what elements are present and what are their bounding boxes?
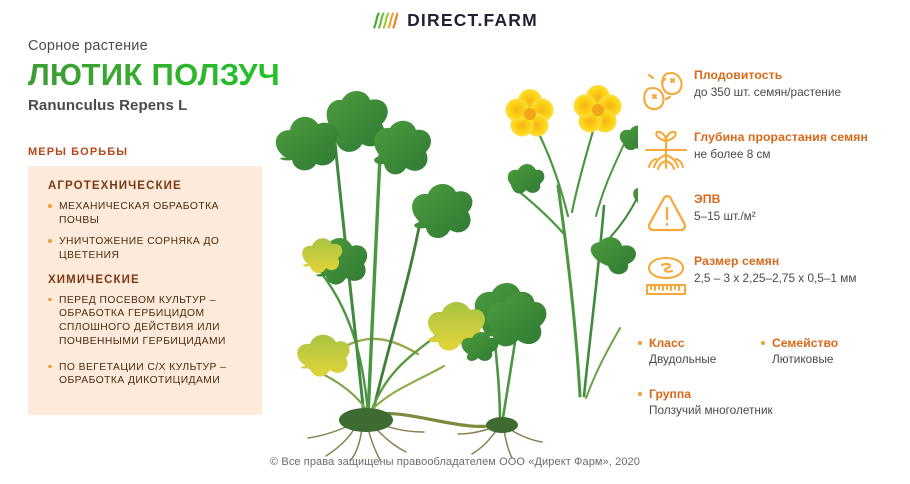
- stat-text: Размер семян 2,5 – 3 х 2,25–2,75 х 0,5–1…: [694, 252, 856, 286]
- sprout-roots-icon: [638, 128, 694, 176]
- stat-row-germination-depth: Глубина прорастания семян не более 8 см: [638, 128, 900, 178]
- list-item-text: ПО ВЕГЕТАЦИИ С/Х КУЛЬТУР – ОБРАБОТКА ДИК…: [59, 362, 226, 387]
- wave-lines-icon: [372, 11, 398, 30]
- infographic-page: DIRECT.FARM Сорное растение ЛЮТИК ПОЛЗУЧ…: [0, 0, 910, 484]
- copyright-footer: © Все права защищены правообладателем ОО…: [0, 456, 910, 468]
- stat-title: Плодовитость: [694, 68, 841, 83]
- list-item: ПЕРЕД ПОСЕВОМ КУЛЬТУР – ОБРАБОТКА ГЕРБИЦ…: [48, 294, 248, 349]
- latin-name: Ranunculus Repens L: [28, 97, 278, 114]
- stat-value: 2,5 – 3 х 2,25–2,75 х 0,5–1 мм: [694, 271, 856, 286]
- bullet-dot-icon: [48, 204, 52, 208]
- page-title: ЛЮТИК ПОЛЗУЧИЙ: [28, 58, 278, 91]
- logo-text: DIRECT.FARM: [407, 10, 538, 31]
- taxonomy-item-class: Класс Двудольные: [638, 336, 761, 366]
- list-item: МЕХАНИЧЕСКАЯ ОБРАБОТКА ПОЧВЫ: [48, 200, 248, 227]
- bullet-dot-icon: [638, 392, 642, 396]
- list-item: УНИЧТОЖЕНИЕ СОРНЯКА ДО ЦВЕТЕНИЯ: [48, 235, 248, 262]
- warning-triangle-icon: [638, 190, 694, 238]
- bullet-dot-icon: [48, 239, 52, 243]
- taxonomy-value: Ползучий многолетник: [649, 403, 773, 417]
- taxonomy-item-family: Семейство Лютиковые: [761, 336, 838, 366]
- measures-list-chem: ПЕРЕД ПОСЕВОМ КУЛЬТУР – ОБРАБОТКА ГЕРБИЦ…: [48, 294, 248, 388]
- taxonomy-item-group: Группа Ползучий многолетник: [638, 387, 773, 417]
- taxonomy-block: Класс Двудольные Семейство Лютиковые Гру…: [638, 336, 906, 417]
- stat-row-fertility: Плодовитость до 350 шт. семян/растение: [638, 66, 900, 116]
- stat-value: до 350 шт. семян/растение: [694, 85, 841, 100]
- stat-value: 5–15 шт./м²: [694, 209, 756, 224]
- taxonomy-key: Группа: [649, 387, 773, 401]
- stat-value: не более 8 см: [694, 147, 868, 162]
- header-block: Сорное растение ЛЮТИК ПОЛЗУЧИЙ Ranunculu…: [28, 38, 278, 114]
- stat-title: Размер семян: [694, 254, 856, 269]
- list-item-text: МЕХАНИЧЕСКАЯ ОБРАБОТКА ПОЧВЫ: [59, 201, 219, 226]
- stat-title: ЭПВ: [694, 192, 756, 207]
- stats-list: Плодовитость до 350 шт. семян/растение: [638, 66, 900, 302]
- creeping-buttercup-icon: [268, 36, 638, 461]
- stat-row-seed-size: Размер семян 2,5 – 3 х 2,25–2,75 х 0,5–1…: [638, 252, 900, 302]
- bullet-dot-icon: [48, 365, 52, 369]
- stat-text: Глубина прорастания семян не более 8 см: [694, 128, 868, 162]
- taxonomy-row: Группа Ползучий многолетник: [638, 387, 906, 417]
- taxonomy-value: Лютиковые: [772, 352, 838, 366]
- list-item: ПО ВЕГЕТАЦИИ С/Х КУЛЬТУР – ОБРАБОТКА ДИК…: [48, 361, 248, 388]
- stat-text: ЭПВ 5–15 шт./м²: [694, 190, 756, 224]
- measures-label: МЕРЫ БОРЬБЫ: [28, 146, 128, 158]
- control-measures-panel: АГРОТЕХНИЧЕСКИЕ МЕХАНИЧЕСКАЯ ОБРАБОТКА П…: [28, 166, 262, 415]
- stat-row-threshold: ЭПВ 5–15 шт./м²: [638, 190, 900, 240]
- bullet-dot-icon: [48, 298, 52, 302]
- taxonomy-key: Класс: [649, 336, 761, 350]
- flower-yellow: [506, 85, 622, 137]
- plant-illustration: [268, 36, 638, 461]
- bullet-dot-icon: [761, 341, 765, 345]
- stat-text: Плодовитость до 350 шт. семян/растение: [694, 66, 841, 100]
- measures-group-heading-agro: АГРОТЕХНИЧЕСКИЕ: [48, 180, 248, 192]
- measures-list-agro: МЕХАНИЧЕСКАЯ ОБРАБОТКА ПОЧВЫ УНИЧТОЖЕНИЕ…: [48, 200, 248, 263]
- taxonomy-value: Двудольные: [649, 352, 761, 366]
- seeds-icon: [638, 66, 694, 114]
- list-item-text: УНИЧТОЖЕНИЕ СОРНЯКА ДО ЦВЕТЕНИЯ: [59, 236, 219, 261]
- eyebrow-label: Сорное растение: [28, 38, 278, 54]
- brand-logo: DIRECT.FARM: [0, 10, 910, 31]
- seed-ruler-icon: [638, 252, 694, 300]
- taxonomy-key: Семейство: [772, 336, 838, 350]
- measures-group-heading-chem: ХИМИЧЕСКИЕ: [48, 274, 248, 286]
- taxonomy-row: Класс Двудольные Семейство Лютиковые: [638, 336, 906, 366]
- stat-title: Глубина прорастания семян: [694, 130, 868, 145]
- bullet-dot-icon: [638, 341, 642, 345]
- list-item-text: ПЕРЕД ПОСЕВОМ КУЛЬТУР – ОБРАБОТКА ГЕРБИЦ…: [59, 295, 226, 347]
